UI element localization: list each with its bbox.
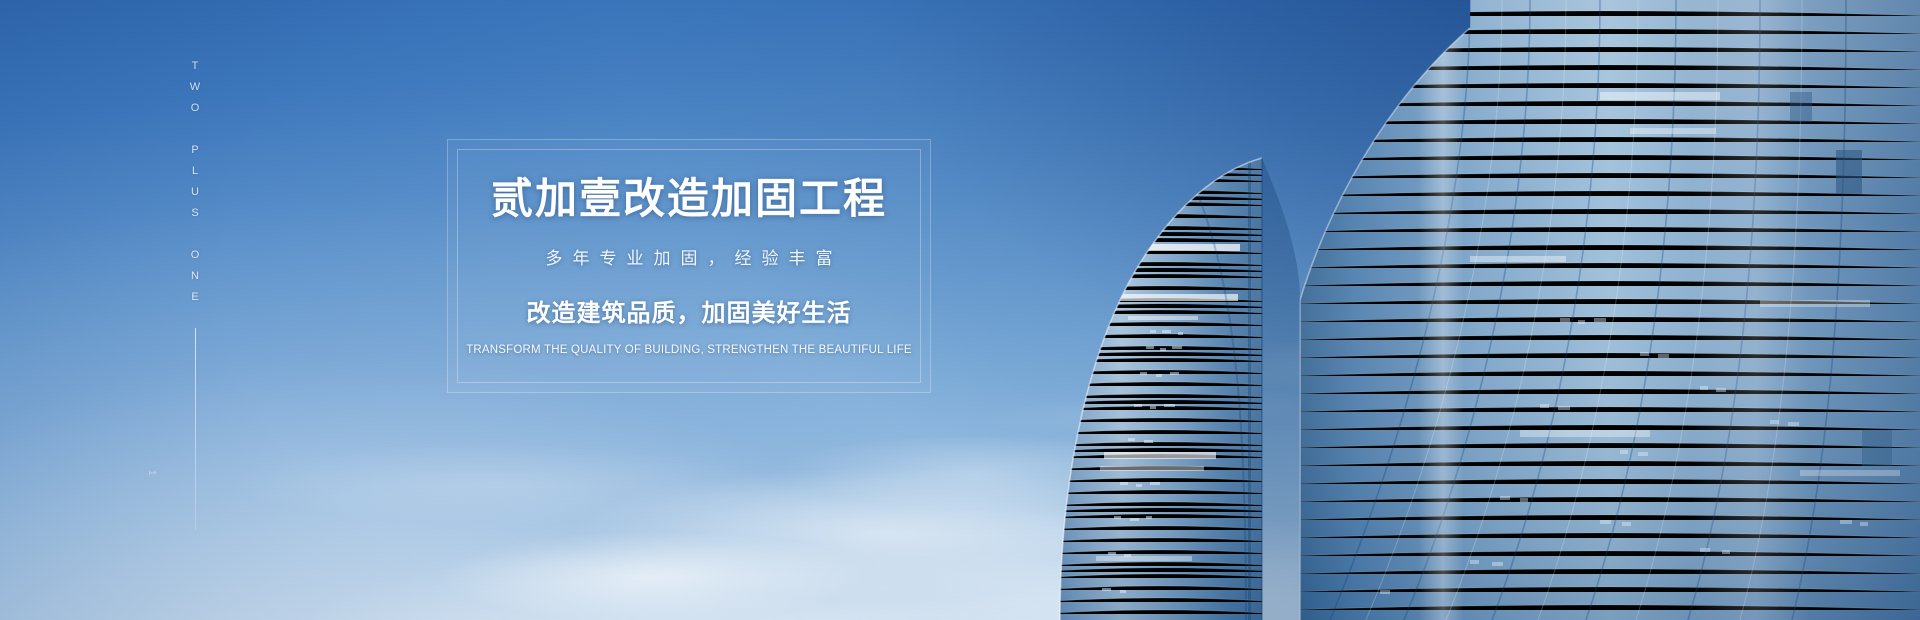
hero-subheadline: 多年专业加固，经验丰富 xyxy=(536,244,843,269)
brand-vertical-rail: TWO PLUS ONE 1 xyxy=(182,60,208,530)
hero-banner: TWO PLUS ONE 1 贰加壹改造加固工程 多年专业加固，经验丰富 改造建… xyxy=(0,0,1920,620)
sky-cloud-layer xyxy=(0,0,1920,620)
cloud-wisp xyxy=(1179,315,1602,400)
photo-grain-overlay xyxy=(0,0,1920,620)
skyscraper-illustration xyxy=(1000,0,1920,620)
brand-rail-divider xyxy=(195,328,196,530)
brand-corner-mark: 1 xyxy=(146,470,157,477)
hero-tagline-english: TRANSFORM THE QUALITY OF BUILDING, STREN… xyxy=(466,344,912,356)
hero-message-card-inner-border: 贰加壹改造加固工程 多年专业加固，经验丰富 改造建筑品质，加固美好生活 TRAN… xyxy=(457,149,921,383)
brand-vertical-text: TWO PLUS ONE xyxy=(182,60,208,312)
cloud-wisp xyxy=(640,470,1280,560)
vignette-overlay xyxy=(0,0,1920,620)
hero-tagline-chinese: 改造建筑品质，加固美好生活 xyxy=(527,293,852,328)
hero-message-card: 贰加壹改造加固工程 多年专业加固，经验丰富 改造建筑品质，加固美好生活 TRAN… xyxy=(447,139,931,393)
hero-headline: 贰加壹改造加固工程 xyxy=(491,176,887,222)
cloud-wisp xyxy=(979,383,1341,442)
